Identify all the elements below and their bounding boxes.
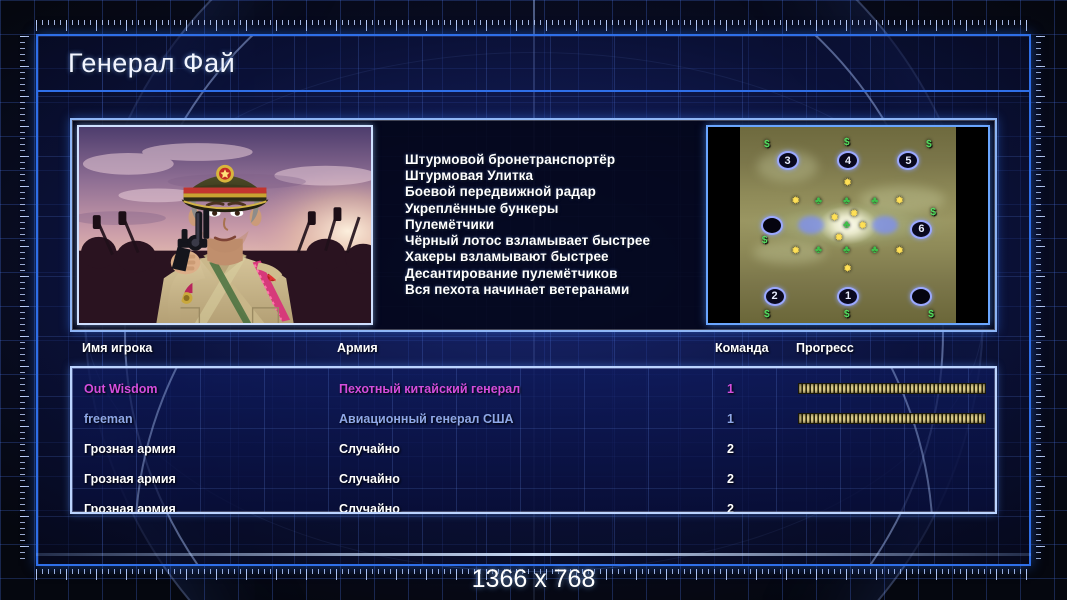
title-bar: Генерал Фай: [38, 36, 1029, 92]
cell-army[interactable]: Авиационный генерал США: [339, 407, 514, 431]
minimap-tree-icon: ♣: [815, 244, 822, 256]
cell-team[interactable]: 1: [727, 407, 734, 431]
minimap-start-position[interactable]: 3: [777, 151, 799, 170]
minimap-start-position[interactable]: [910, 287, 932, 306]
minimap-tree-icon: ♣: [843, 195, 850, 207]
cell-player-name[interactable]: Грозная армия: [84, 437, 176, 461]
table-row[interactable]: Грозная армияСлучайно2: [72, 497, 995, 514]
cell-player-name[interactable]: Out Wisdom: [84, 377, 158, 401]
minimap-tree-icon: ♣: [871, 244, 878, 256]
cell-team[interactable]: 2: [727, 437, 734, 461]
minimap-star-icon: ✹: [791, 244, 800, 257]
minimap-supply-icon: $: [928, 309, 934, 320]
minimap-star-icon: ✹: [895, 244, 904, 257]
header-team: Команда: [715, 341, 769, 355]
ruler-left: [20, 36, 31, 564]
header-army: Армия: [337, 341, 378, 355]
ability-line: Пулемётчики: [405, 217, 706, 233]
general-info-panel: Штурмовой бронетранспортёрШтурмовая Улит…: [70, 118, 997, 332]
minimap-tree-icon: ♣: [815, 195, 822, 207]
minimap-star-icon: ✹: [834, 231, 843, 244]
cell-army[interactable]: Случайно: [339, 437, 400, 461]
cell-team[interactable]: 2: [727, 497, 734, 514]
cell-player-name[interactable]: Грозная армия: [84, 497, 176, 514]
progress-bar: [798, 383, 986, 394]
general-portrait-frame: [77, 125, 373, 325]
minimap[interactable]: $$$$$$$$♣♣♣♣♣♣♣✹✹✹✹✹✹✹✹✹✹345621: [708, 127, 988, 323]
minimap-supply-icon: $: [844, 137, 850, 148]
page-title: Генерал Фай: [68, 48, 235, 79]
cell-army[interactable]: Случайно: [339, 467, 400, 491]
minimap-tree-icon: ♣: [843, 244, 850, 256]
minimap-star-icon: ✹: [830, 211, 839, 224]
table-row[interactable]: Out WisdomПехотный китайский генерал1: [72, 377, 995, 401]
minimap-start-position[interactable]: 1: [837, 287, 859, 306]
table-row[interactable]: Грозная армияСлучайно2: [72, 437, 995, 461]
ability-line: Вся пехота начинает ветеранами: [405, 282, 706, 298]
minimap-star-icon: ✹: [858, 219, 867, 232]
ruler-right: [1036, 36, 1047, 564]
ability-line: Штурмовая Улитка: [405, 168, 706, 184]
ability-line: Боевой передвижной радар: [405, 184, 706, 200]
cell-player-name[interactable]: Грозная армия: [84, 467, 176, 491]
ability-line: Укреплённые бункеры: [405, 201, 706, 217]
minimap-start-position[interactable]: [761, 216, 783, 235]
ability-line: Десантирование пулемётчиков: [405, 266, 706, 282]
screen-root: Генерал Фай: [0, 0, 1067, 600]
minimap-supply-icon: $: [764, 309, 770, 320]
players-rows: Out WisdomПехотный китайский генерал1fre…: [72, 377, 995, 514]
cell-army[interactable]: Пехотный китайский генерал: [339, 377, 520, 401]
minimap-supply-icon: $: [930, 207, 936, 218]
header-player-name: Имя игрока: [82, 341, 152, 355]
cell-team[interactable]: 2: [727, 467, 734, 491]
minimap-tree-icon: ♣: [843, 219, 850, 231]
minimap-start-position[interactable]: 6: [910, 220, 932, 239]
minimap-star-icon: ✹: [843, 262, 852, 275]
minimap-supply-icon: $: [844, 309, 850, 320]
minimap-start-position[interactable]: 4: [837, 151, 859, 170]
minimap-star-icon: ✹: [895, 194, 904, 207]
general-portrait-image: [79, 127, 371, 323]
minimap-star-icon: ✹: [843, 176, 852, 189]
minimap-supply-icon: $: [926, 139, 932, 150]
ability-line: Штурмовой бронетранспортёр: [405, 152, 706, 168]
ability-line: Хакеры взламывают быстрее: [405, 249, 706, 265]
players-list-panel: Out WisdomПехотный китайский генерал1fre…: [70, 366, 997, 514]
resolution-label: 1366 x 768: [0, 565, 1067, 594]
table-row[interactable]: freemanАвиационный генерал США1: [72, 407, 995, 431]
cell-progress: [798, 413, 986, 424]
ruler-top: [36, 20, 1031, 31]
ability-line: Чёрный лотос взламывает быстрее: [405, 233, 706, 249]
progress-bar: [798, 413, 986, 424]
minimap-terrain: $$$$$$$$♣♣♣♣♣♣♣✹✹✹✹✹✹✹✹✹✹345621: [740, 127, 956, 323]
players-table-headers: Имя игрока Армия Команда Прогресс: [82, 341, 985, 363]
cell-player-name[interactable]: freeman: [84, 407, 133, 431]
table-row[interactable]: Грозная армияСлучайно2: [72, 467, 995, 491]
minimap-supply-icon: $: [764, 139, 770, 150]
cell-team[interactable]: 1: [727, 377, 734, 401]
general-abilities-list: Штурмовой бронетранспортёрШтурмовая Улит…: [373, 120, 706, 330]
main-window: Генерал Фай: [36, 34, 1031, 566]
minimap-star-icon: ✹: [791, 194, 800, 207]
minimap-frame[interactable]: $$$$$$$$♣♣♣♣♣♣♣✹✹✹✹✹✹✹✹✹✹345621: [706, 125, 990, 325]
minimap-start-position[interactable]: 5: [897, 151, 919, 170]
minimap-start-position[interactable]: 2: [764, 287, 786, 306]
minimap-star-icon: ✹: [849, 207, 858, 220]
minimap-supply-icon: $: [762, 235, 768, 246]
footer-divider: [36, 553, 1031, 556]
cell-army[interactable]: Случайно: [339, 497, 400, 514]
minimap-tree-icon: ♣: [871, 195, 878, 207]
cell-progress: [798, 383, 986, 394]
header-progress: Прогресс: [796, 341, 854, 355]
